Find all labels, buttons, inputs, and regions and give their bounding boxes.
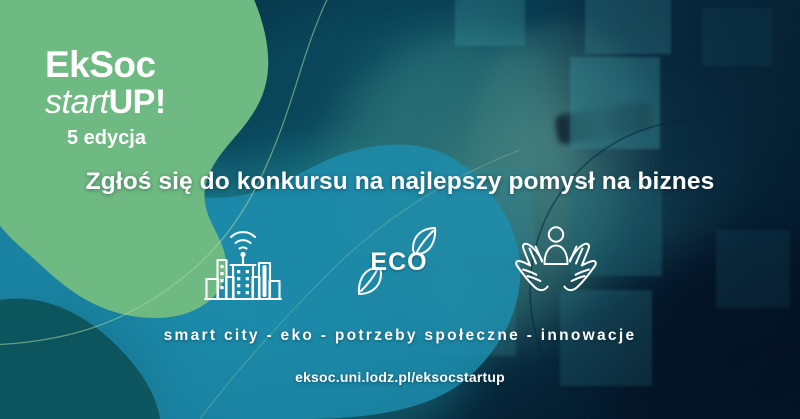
logo-word-start: start [45, 83, 109, 121]
logo-line-eksoc: EkSoc [45, 46, 166, 83]
smart-city-icon [201, 219, 285, 305]
hands-person-icon [513, 222, 599, 302]
headline: Zgłoś się do konkursu na najlepszy pomys… [0, 168, 800, 196]
promo-banner: EkSoc startUP! 5 edycja Zgłoś się do kon… [0, 0, 800, 419]
icon-row: ECO [0, 214, 800, 310]
logo-line-startup: startUP! [45, 85, 166, 119]
website-url[interactable]: eksoc.uni.lodz.pl/eksocstartup [0, 369, 800, 385]
logo-word-up: UP! [109, 83, 166, 121]
eco-label: ECO [370, 248, 427, 277]
eco-leaf-icon: ECO [351, 225, 447, 299]
logo-edition: 5 edycja [67, 128, 166, 148]
tagline: smart city - eko - potrzeby społeczne - … [0, 327, 800, 345]
eksoc-startup-logo: EkSoc startUP! 5 edycja [45, 46, 166, 148]
content-layer: EkSoc startUP! 5 edycja Zgłoś się do kon… [0, 0, 800, 419]
